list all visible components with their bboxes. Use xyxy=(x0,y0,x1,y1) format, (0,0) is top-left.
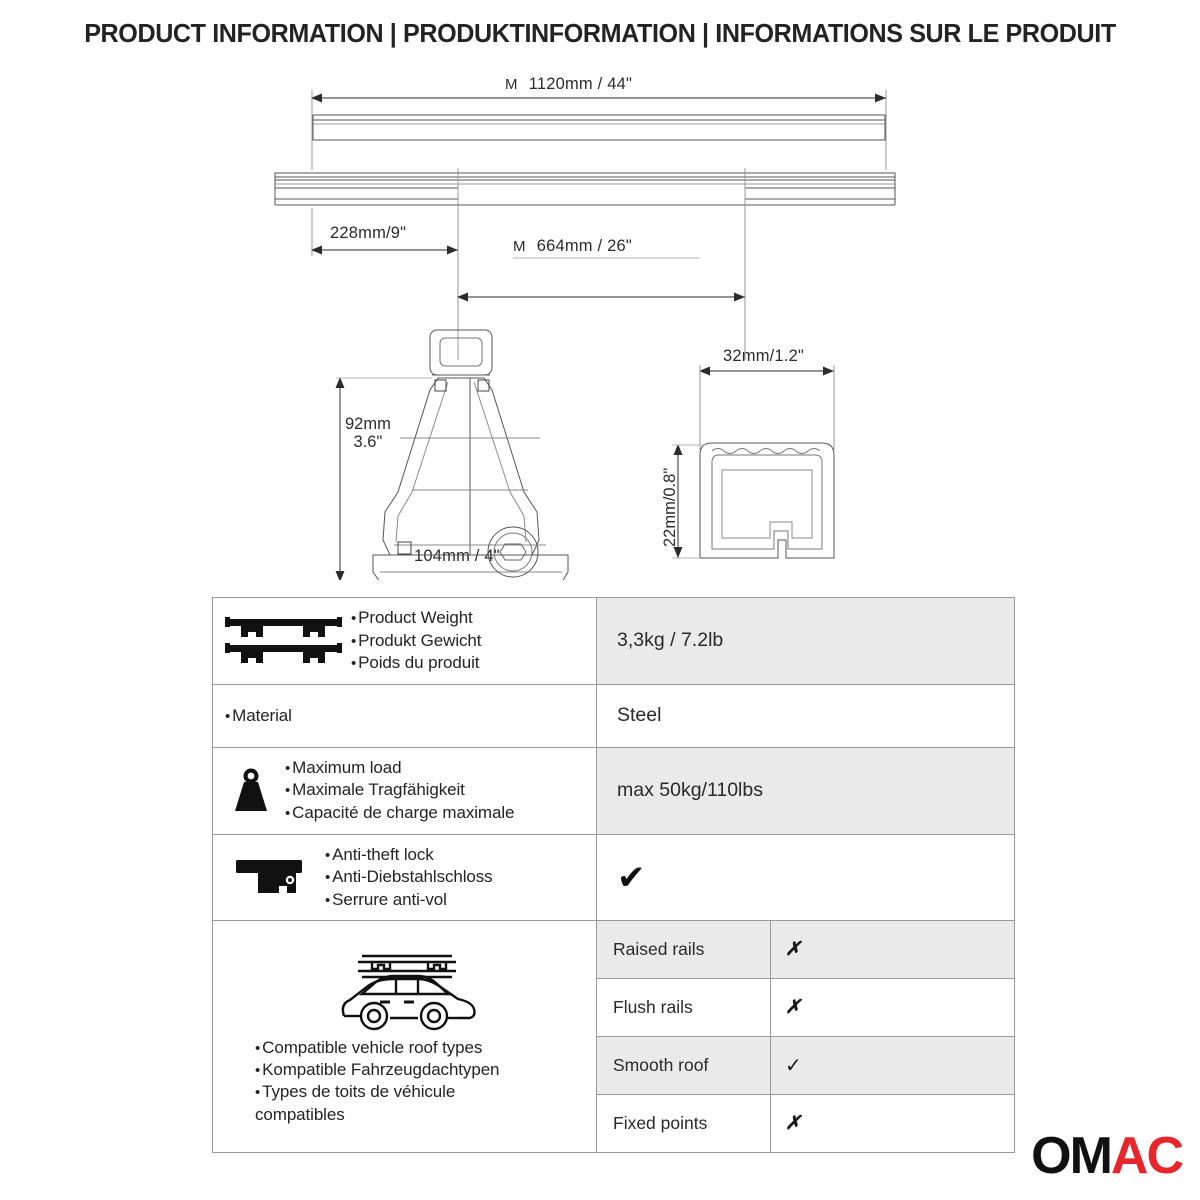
label-line-de: Produkt Gewicht xyxy=(351,630,481,653)
row-value-material: Steel xyxy=(597,684,1015,747)
label-line-fr: Types de toits de véhicule xyxy=(255,1081,590,1103)
roof-type-row-fixed-points: Fixed points ✗ xyxy=(597,1095,1014,1153)
table-row-maximum-load: Maximum load Maximale Tragfähigkeit Capa… xyxy=(213,747,1015,834)
roof-type-row-flush-rails: Flush rails ✗ xyxy=(597,979,1014,1037)
row-label-text-roof-types: Compatible vehicle roof types Kompatible… xyxy=(223,1037,590,1127)
row-label-text-material: Material xyxy=(225,705,292,728)
row-label-text-anti-theft-lock: Anti-theft lock Anti-Diebstahlschloss Se… xyxy=(325,844,493,912)
row-value-maximum-load: max 50kg/110lbs xyxy=(597,747,1015,834)
label-line-en: Product Weight xyxy=(351,607,481,630)
page-header: PRODUCT INFORMATION | PRODUKTINFORMATION… xyxy=(0,20,1200,49)
lock-icon xyxy=(225,856,317,900)
label-line-fr: Serrure anti-vol xyxy=(325,889,493,912)
label-line-de: Maximale Tragfähigkeit xyxy=(285,779,514,802)
row-label-product-weight: Product Weight Produkt Gewicht Poids du … xyxy=(213,598,597,685)
drawing-svg xyxy=(0,60,1200,580)
roof-type-name: Smooth roof xyxy=(597,1037,771,1095)
label-line-en: Anti-theft lock xyxy=(325,844,493,867)
logo-text-dark: OM xyxy=(1031,1127,1111,1185)
label-line-de: Kompatible Fahrzeugdachtypen xyxy=(255,1059,590,1081)
cross-icon: ✗ xyxy=(771,979,1015,1037)
table-row-product-weight: Product Weight Produkt Gewicht Poids du … xyxy=(213,598,1015,685)
car-with-rack-icon xyxy=(223,946,590,1037)
cross-icon: ✗ xyxy=(771,1095,1015,1153)
label-line-en: Material xyxy=(225,705,292,728)
label-line-fr-cont: compatibles xyxy=(255,1104,590,1126)
roof-type-name: Fixed points xyxy=(597,1095,771,1153)
product-spec-table: Product Weight Produkt Gewicht Poids du … xyxy=(212,597,1015,1153)
roof-type-row-smooth-roof: Smooth roof ✓ xyxy=(597,1037,1014,1095)
cross-icon: ✗ xyxy=(771,921,1015,979)
table-row-material: Material Steel xyxy=(213,684,1015,747)
logo-text-red: AC xyxy=(1111,1127,1182,1185)
roof-type-row-raised-rails: Raised rails ✗ xyxy=(597,921,1014,979)
row-label-maximum-load: Maximum load Maximale Tragfähigkeit Capa… xyxy=(213,747,597,834)
technical-drawing-area: M1120mm / 44" 228mm/9" M664mm / 26" 92mm… xyxy=(0,60,1200,580)
page-title: PRODUCT INFORMATION | PRODUKTINFORMATION… xyxy=(9,20,1191,49)
roof-type-name: Flush rails xyxy=(597,979,771,1037)
row-label-text-product-weight: Product Weight Produkt Gewicht Poids du … xyxy=(351,607,481,675)
row-value-anti-theft-lock: ✔ xyxy=(597,834,1015,921)
table-row-roof-types: Compatible vehicle roof types Kompatible… xyxy=(213,921,1015,1153)
row-label-roof-types: Compatible vehicle roof types Kompatible… xyxy=(213,921,597,1153)
table-row-anti-theft-lock: Anti-theft lock Anti-Diebstahlschloss Se… xyxy=(213,834,1015,921)
omac-logo: OMAC xyxy=(1031,1130,1182,1182)
crossbars-icon xyxy=(225,615,343,667)
roof-types-subtable: Raised rails ✗ Flush rails ✗ Smooth roof… xyxy=(597,921,1014,1152)
label-line-en: Maximum load xyxy=(285,757,514,780)
row-value-product-weight: 3,3kg / 7.2lb xyxy=(597,598,1015,685)
label-line-de: Anti-Diebstahlschloss xyxy=(325,866,493,889)
label-line-fr: Capacité de charge maximale xyxy=(285,802,514,825)
label-line-en: Compatible vehicle roof types xyxy=(255,1037,590,1059)
weight-icon xyxy=(225,768,277,814)
roof-types-subtable-cell: Raised rails ✗ Flush rails ✗ Smooth roof… xyxy=(597,921,1015,1153)
check-icon: ✓ xyxy=(771,1037,1015,1095)
check-icon: ✔ xyxy=(617,859,646,897)
label-line-fr: Poids du produit xyxy=(351,652,481,675)
row-label-text-maximum-load: Maximum load Maximale Tragfähigkeit Capa… xyxy=(285,757,514,825)
roof-type-name: Raised rails xyxy=(597,921,771,979)
row-label-anti-theft-lock: Anti-theft lock Anti-Diebstahlschloss Se… xyxy=(213,834,597,921)
row-label-material: Material xyxy=(213,684,597,747)
